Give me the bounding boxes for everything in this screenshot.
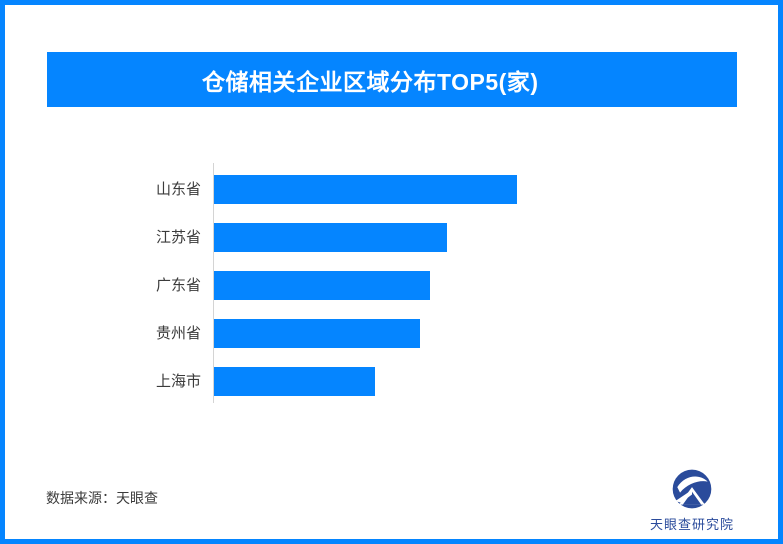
title-banner: 仓储相关企业区域分布TOP5(家) [47,52,737,107]
frame-border-bottom [0,539,783,544]
bar-value-rect [214,271,430,300]
data-source-note: 数据来源：天眼查 [46,488,158,508]
bar-value-rect [214,367,375,396]
bar-chart: 山东省江苏省广东省贵州省上海市 [0,140,783,430]
bar-row: 上海市 [0,367,783,396]
brand-logo: 天眼查研究院 [637,466,747,533]
bar-value-rect [214,175,517,204]
bar-value-rect [214,223,447,252]
bar-category-label: 山东省 [80,175,201,204]
page-title: 仓储相关企业区域分布TOP5(家) [202,63,538,97]
brand-logo-label: 天眼查研究院 [637,514,747,533]
bar-value-rect [214,319,420,348]
bar-row: 江苏省 [0,223,783,252]
infographic-canvas: 仓储相关企业区域分布TOP5(家) 山东省江苏省广东省贵州省上海市 数据来源：天… [0,0,783,544]
bar-row: 广东省 [0,271,783,300]
tianyancha-logo-icon [669,466,715,512]
bar-row: 山东省 [0,175,783,204]
bar-category-label: 广东省 [80,271,201,300]
frame-border-top [0,0,783,5]
bar-category-label: 贵州省 [80,319,201,348]
bar-category-label: 上海市 [80,367,201,396]
bar-row: 贵州省 [0,319,783,348]
bar-category-label: 江苏省 [80,223,201,252]
